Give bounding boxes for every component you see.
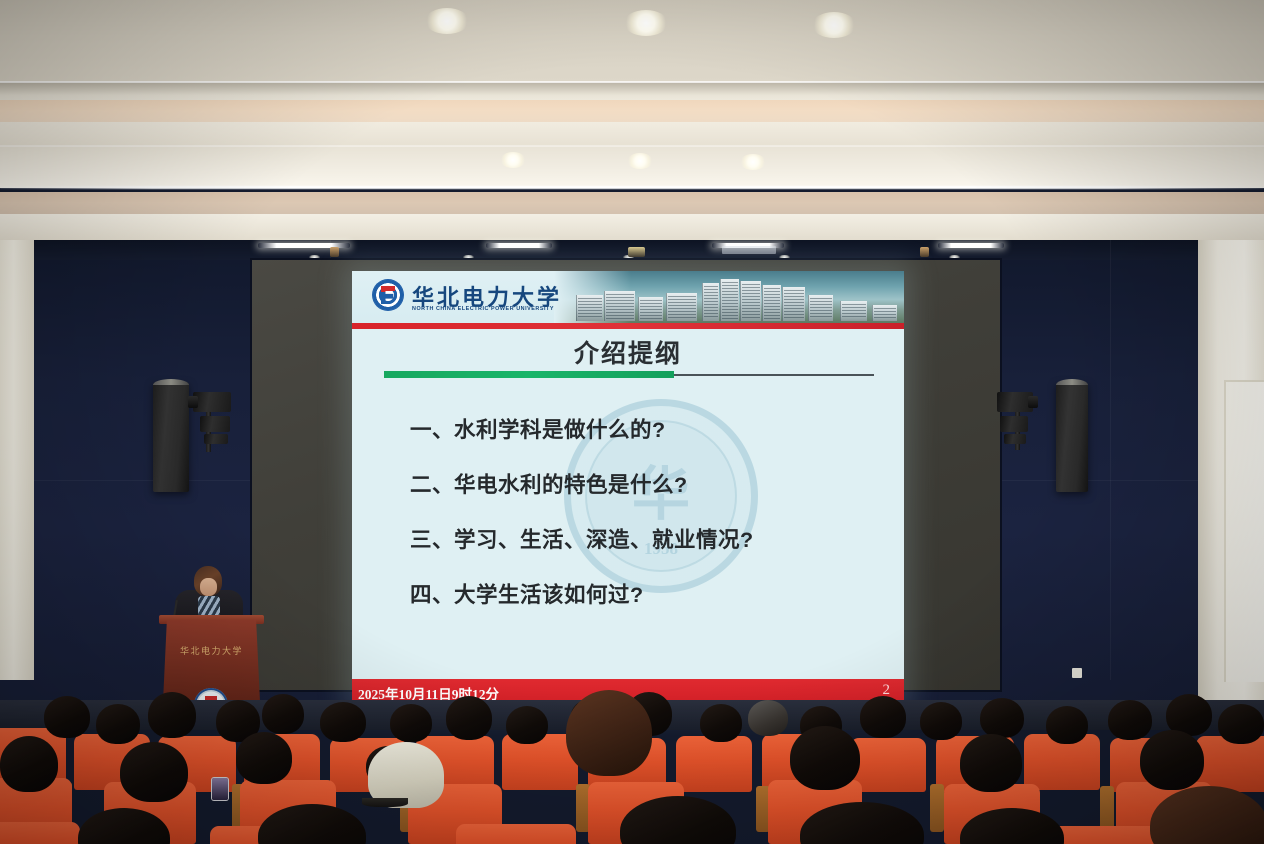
ceiling-downlight (812, 12, 856, 38)
cap-brim (362, 798, 408, 807)
auditorium-seat (0, 822, 80, 844)
audience-head (1218, 704, 1264, 744)
ceiling-sensor (628, 247, 645, 257)
ptz-camera-left (193, 392, 231, 412)
column-speaker-right (1056, 382, 1088, 492)
ceiling-soffit-band-5 (0, 214, 1264, 240)
audience-head (236, 732, 292, 784)
audience-head (0, 736, 58, 792)
audience-head (390, 704, 432, 742)
camera-lens-right (1028, 396, 1038, 408)
ceiling-vent-plate (722, 246, 776, 254)
camera-lens-left (188, 396, 198, 408)
university-logo-icon (372, 279, 404, 311)
auditorium-seat (850, 738, 926, 792)
audience-head (790, 726, 860, 790)
list-item: 四、大学生活该如何过? (410, 578, 884, 609)
audience-head (700, 704, 742, 742)
wall-panel-seam (1110, 240, 1111, 680)
ceiling-accent-stripe-2 (0, 192, 1264, 214)
presenter-face (200, 578, 217, 596)
camera-base-left (200, 416, 230, 432)
auditorium-seat (676, 736, 752, 792)
audience-head (566, 690, 652, 776)
audience-head (860, 696, 906, 738)
audience-phone (212, 778, 228, 800)
audience-head (148, 692, 196, 738)
audience-head (446, 696, 492, 740)
campus-photo-banner (554, 271, 904, 323)
wall-switch-plate[interactable] (1072, 668, 1082, 678)
slide-header: 华北电力大学 NORTH CHINA ELECTRIC POWER UNIVER… (352, 271, 904, 323)
ceiling-downlight (425, 8, 469, 34)
audience-head (262, 694, 304, 734)
audience-head (1046, 706, 1088, 744)
list-item: 一、水利学科是做什么的? (410, 413, 884, 444)
slide-red-divider (352, 323, 904, 329)
auditorium-scene: 华北电力大学 NORTH CHINA ELECTRIC POWER UNIVER… (0, 0, 1264, 844)
ceiling-downlight (624, 10, 668, 36)
audience-head (506, 706, 548, 744)
slide-title-accent-bar (384, 371, 674, 378)
ceiling-sensor (330, 247, 339, 257)
led-strip-light (486, 243, 552, 248)
ceiling-cove-light (0, 186, 1264, 189)
seat-armrest (930, 784, 944, 832)
wall-pillar-left (0, 240, 34, 680)
projected-slide: 华北电力大学 NORTH CHINA ELECTRIC POWER UNIVER… (352, 271, 904, 705)
camera-bracket-right (1004, 434, 1026, 444)
list-item: 三、学习、生活、深造、就业情况? (410, 523, 884, 554)
list-item: 二、华电水利的特色是什么? (410, 468, 884, 499)
audience-head (96, 704, 140, 744)
audience-area (0, 690, 1264, 844)
audience-head (748, 700, 788, 736)
slide-title: 介绍提纲 (352, 334, 904, 370)
audience-head (960, 734, 1022, 792)
audience-head (920, 702, 962, 740)
camera-base-right (1000, 416, 1028, 432)
audience-head (120, 742, 188, 802)
camera-bracket-left (204, 434, 228, 444)
audience-head (1140, 730, 1204, 790)
ceiling-downlight (740, 154, 766, 170)
ceiling-accent-stripe-1 (0, 100, 1264, 122)
podium-nameplate: 华北电力大学 (163, 644, 260, 657)
column-speaker-left (153, 382, 189, 492)
ceiling-sensor (920, 247, 929, 257)
ceiling-seam-line-2 (0, 145, 1264, 147)
led-strip-light (938, 243, 1004, 248)
ceiling-downlight (500, 152, 526, 168)
audience-head (980, 698, 1024, 738)
projection-screen: 华北电力大学 NORTH CHINA ELECTRIC POWER UNIVER… (252, 260, 1000, 690)
slide-outline-list: 一、水利学科是做什么的? 二、华电水利的特色是什么? 三、学习、生活、深造、就业… (410, 413, 884, 633)
audience-head (1108, 700, 1152, 740)
audience-head (44, 696, 90, 738)
audience-head (320, 702, 366, 742)
auditorium-seat (456, 824, 576, 844)
university-name-en: NORTH CHINA ELECTRIC POWER UNIVERSITY (412, 306, 554, 312)
ceiling-seam-line-1 (0, 81, 1264, 83)
wall-recess-right (1224, 380, 1264, 682)
ceiling-downlight (627, 153, 653, 169)
